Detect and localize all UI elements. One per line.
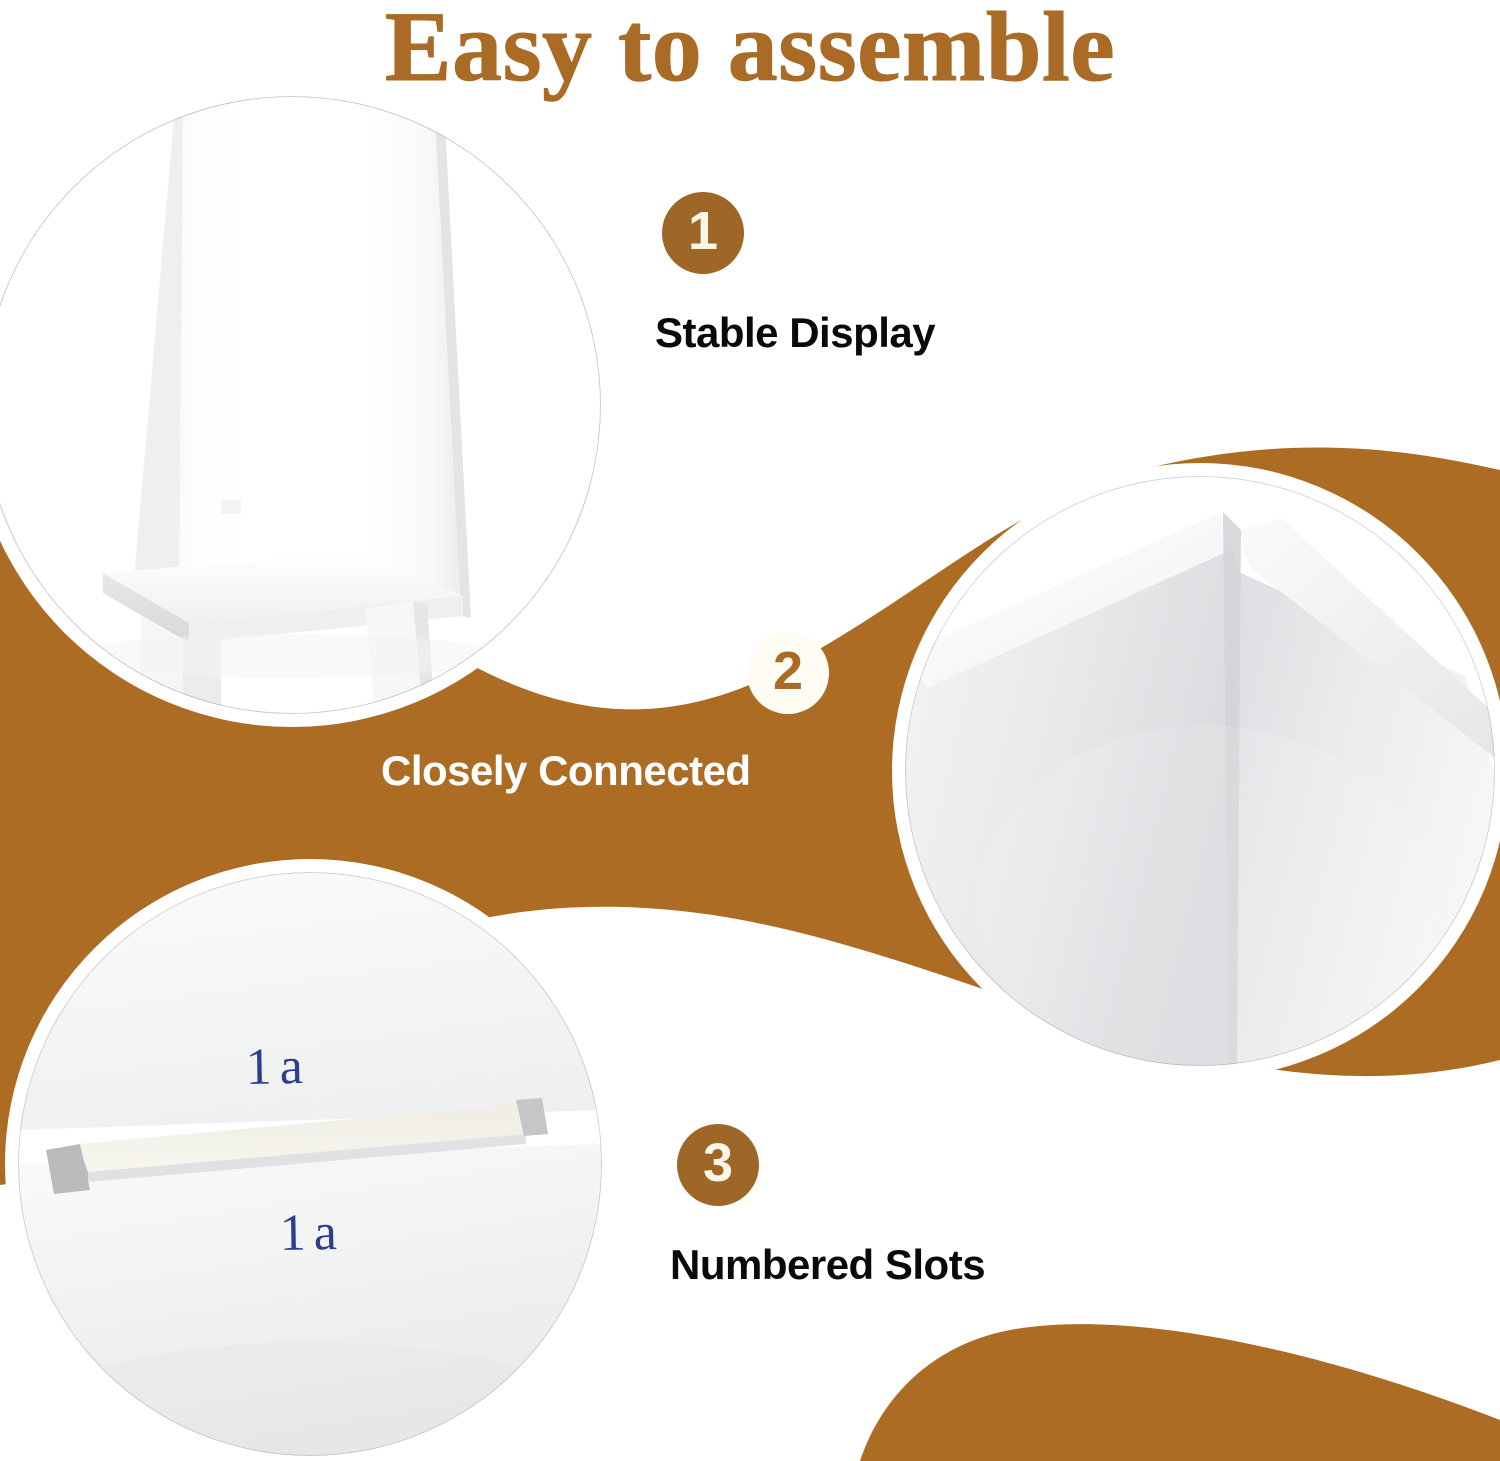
slot-mark-lower: 1a bbox=[279, 1204, 345, 1262]
ribbon-bottom-right-shape bbox=[860, 1324, 1500, 1461]
step-3-label: Numbered Slots bbox=[670, 1244, 985, 1286]
step-1: 1 Stable Display bbox=[655, 192, 935, 354]
step-2: 2 Closely Connected bbox=[747, 632, 829, 792]
slot-mark-upper: 1a bbox=[245, 1038, 311, 1096]
step-2-number: 2 bbox=[773, 644, 803, 698]
svg-text:1a: 1a bbox=[279, 1204, 345, 1262]
svg-text:1a: 1a bbox=[245, 1038, 311, 1096]
stable-display-photo bbox=[0, 96, 601, 714]
step-2-badge: 2 bbox=[747, 632, 829, 714]
numbered-slot-illustration: 1a 1a bbox=[18, 872, 602, 1456]
infographic-canvas: Easy to assemble bbox=[0, 0, 1500, 1461]
step-1-label: Stable Display bbox=[655, 312, 935, 354]
corner-joint-illustration bbox=[905, 476, 1495, 1066]
step-3-number: 3 bbox=[703, 1136, 733, 1190]
step-1-badge: 1 bbox=[662, 192, 744, 274]
step-3: 3 Numbered Slots bbox=[670, 1124, 985, 1286]
page-title: Easy to assemble bbox=[0, 0, 1500, 99]
step-3-badge: 3 bbox=[677, 1124, 759, 1206]
stand-legs-illustration bbox=[0, 96, 601, 714]
closely-connected-photo bbox=[905, 476, 1495, 1066]
step-2-label: Closely Connected bbox=[381, 750, 829, 792]
step-1-number: 1 bbox=[688, 204, 718, 258]
numbered-slots-photo: 1a 1a bbox=[18, 872, 602, 1456]
